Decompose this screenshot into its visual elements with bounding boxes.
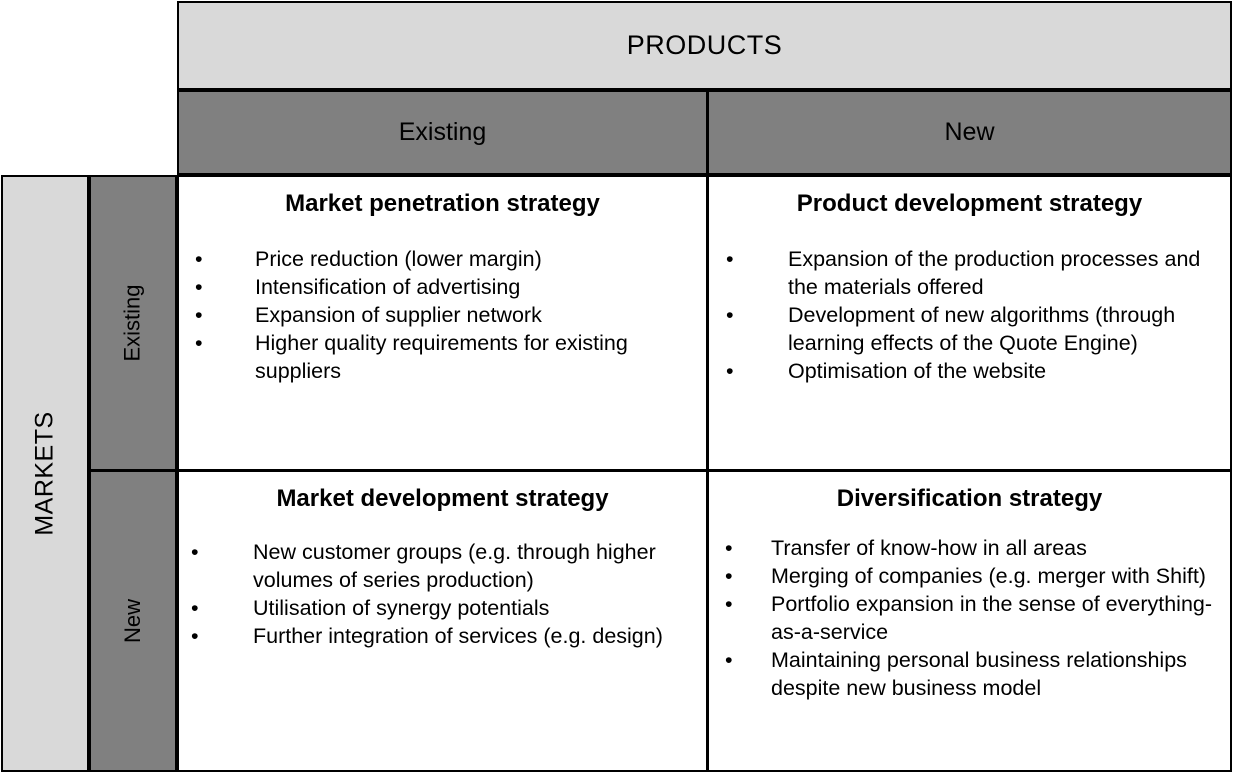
list-item: • Intensification of advertising — [195, 273, 696, 301]
products-column-label-existing: Existing — [399, 120, 487, 145]
markets-row-header-existing: Existing — [89, 175, 177, 471]
quadrant-title: Market development strategy — [179, 486, 706, 512]
bullet-icon: • — [191, 594, 205, 622]
bullet-icon: • — [726, 357, 740, 385]
quadrant-bullet-list: • Expansion of the production processes … — [726, 245, 1224, 385]
list-item: • Expansion of the production processes … — [726, 245, 1224, 301]
list-item-text: Utilisation of synergy potentials — [253, 594, 694, 622]
markets-axis-label: MARKETS — [33, 411, 58, 535]
bullet-icon: • — [725, 646, 739, 674]
bullet-icon: • — [726, 301, 740, 329]
bullet-icon: • — [195, 273, 209, 301]
list-item-text: Portfolio expansion in the sense of ever… — [771, 590, 1226, 646]
list-item: • Portfolio expansion in the sense of ev… — [725, 590, 1226, 646]
bullet-icon: • — [195, 301, 209, 329]
list-item-text: Transfer of know-how in all areas — [771, 534, 1226, 562]
bullet-icon: • — [725, 562, 739, 590]
quadrant-market-penetration: Market penetration strategy • Price redu… — [177, 175, 708, 471]
quadrant-title: Product development strategy — [709, 191, 1230, 217]
quadrant-market-development: Market development strategy • New custom… — [177, 470, 708, 772]
bullet-icon: • — [195, 245, 209, 273]
quadrant-product-development: Product development strategy • Expansion… — [707, 175, 1232, 471]
list-item-text: Optimisation of the website — [788, 357, 1224, 385]
bullet-icon: • — [191, 622, 205, 650]
bullet-icon: • — [725, 590, 739, 618]
list-item-text: Further integration of services (e.g. de… — [253, 622, 694, 650]
quadrant-bullet-list: • Price reduction (lower margin) • Inten… — [195, 245, 696, 385]
list-item-text: Maintaining personal business relationsh… — [771, 646, 1226, 702]
bullet-icon: • — [725, 534, 739, 562]
list-item: • Maintaining personal business relation… — [725, 646, 1226, 702]
list-item-text: New customer groups (e.g. through higher… — [253, 538, 694, 594]
markets-row-label-existing: Existing — [122, 284, 144, 361]
list-item: • Expansion of supplier network — [195, 301, 696, 329]
list-item: • Development of new algorithms (through… — [726, 301, 1224, 357]
list-item: • Price reduction (lower margin) — [195, 245, 696, 273]
quadrant-diversification: Diversification strategy • Transfer of k… — [707, 470, 1232, 772]
quadrant-bullet-list: • Transfer of know-how in all areas • Me… — [725, 534, 1226, 702]
quadrant-title: Market penetration strategy — [179, 191, 706, 217]
list-item: • Higher quality requirements for existi… — [195, 329, 696, 385]
list-item-text: Expansion of the production processes an… — [788, 245, 1224, 301]
markets-row-header-new: New — [89, 470, 177, 772]
bullet-icon: • — [726, 245, 740, 273]
list-item-text: Development of new algorithms (through l… — [788, 301, 1224, 357]
list-item: • New customer groups (e.g. through high… — [191, 538, 694, 594]
bullet-icon: • — [191, 538, 205, 566]
list-item-text: Intensification of advertising — [255, 273, 696, 301]
list-item: • Transfer of know-how in all areas — [725, 534, 1226, 562]
products-column-label-new: New — [944, 120, 994, 145]
list-item: • Merging of companies (e.g. merger with… — [725, 562, 1226, 590]
markets-axis-header: MARKETS — [1, 175, 89, 772]
list-item-text: Merging of companies (e.g. merger with S… — [771, 562, 1226, 590]
list-item-text: Higher quality requirements for existing… — [255, 329, 696, 385]
products-column-header-existing: Existing — [177, 90, 708, 175]
list-item: • Utilisation of synergy potentials — [191, 594, 694, 622]
bullet-icon: • — [195, 329, 209, 357]
markets-row-label-new: New — [122, 599, 144, 643]
products-column-header-new: New — [707, 90, 1232, 175]
quadrant-title: Diversification strategy — [709, 486, 1230, 512]
list-item: • Optimisation of the website — [726, 357, 1224, 385]
products-axis-label: PRODUCTS — [627, 32, 783, 59]
products-axis-header: PRODUCTS — [177, 1, 1232, 90]
list-item: • Further integration of services (e.g. … — [191, 622, 694, 650]
ansoff-matrix: PRODUCTS Existing New MARKETS Existing N… — [0, 0, 1241, 774]
list-item-text: Price reduction (lower margin) — [255, 245, 696, 273]
quadrant-bullet-list: • New customer groups (e.g. through high… — [191, 538, 694, 650]
list-item-text: Expansion of supplier network — [255, 301, 696, 329]
